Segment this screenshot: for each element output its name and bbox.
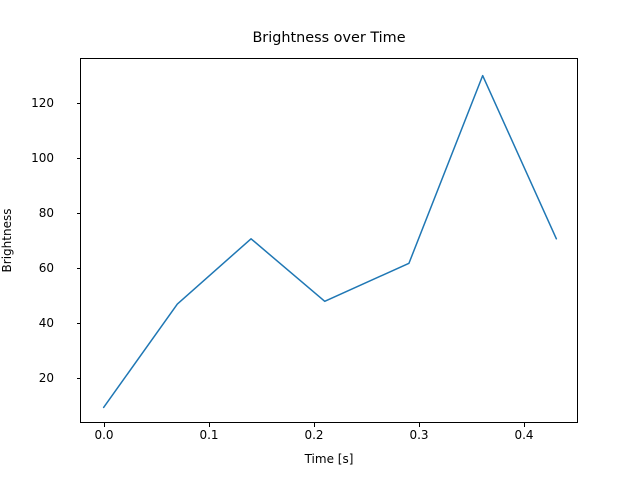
ytick-label-100: 100 [31,151,54,165]
ytick-label-80: 80 [39,206,54,220]
plot-area [80,58,578,423]
xtick-mark-2 [314,423,315,427]
xtick-mark-3 [419,423,420,427]
chart-title: Brightness over Time [80,30,578,46]
x-axis-label: Time [s] [80,452,578,466]
ytick-mark-80 [77,213,81,214]
xtick-mark-4 [524,423,525,427]
ytick-mark-20 [77,378,81,379]
xtick-label-0: 0.0 [94,428,113,442]
ytick-label-20: 20 [39,371,54,385]
xtick-label-3: 0.3 [409,428,428,442]
line-series-svg [81,59,579,424]
ytick-mark-120 [77,103,81,104]
xtick-label-4: 0.4 [514,428,533,442]
ytick-mark-100 [77,158,81,159]
xtick-label-2: 0.2 [304,428,323,442]
ytick-mark-40 [77,323,81,324]
ytick-label-60: 60 [39,261,54,275]
ytick-label-120: 120 [31,96,54,110]
y-axis-label: Brightness [0,58,16,423]
xtick-mark-1 [209,423,210,427]
ytick-label-40: 40 [39,316,54,330]
brightness-line [104,76,557,408]
ytick-mark-60 [77,268,81,269]
chart-figure: Brightness over Time 120 100 80 60 40 20… [0,0,640,480]
xtick-label-1: 0.1 [199,428,218,442]
xtick-mark-0 [104,423,105,427]
